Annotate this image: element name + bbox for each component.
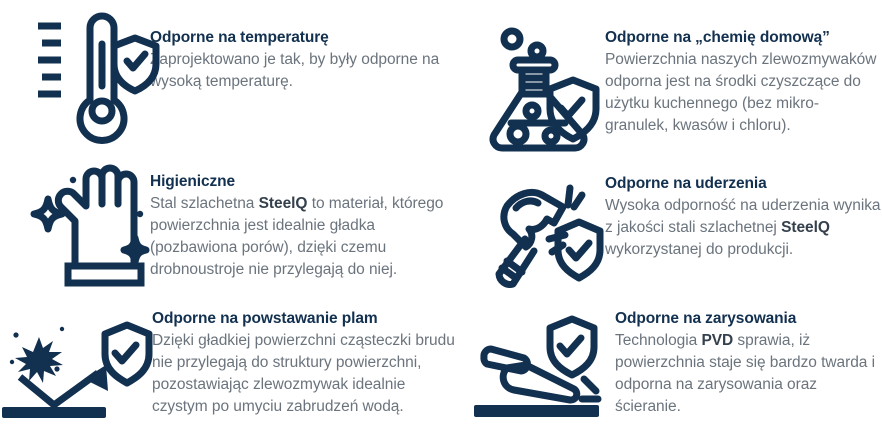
feature-description: Zaprojektowano je tak, by były odporne n… <box>150 49 458 93</box>
desc-part-before: Stal szlachetna <box>150 195 259 212</box>
features-grid: Odporne na temperaturę Zaprojektowano je… <box>0 0 882 441</box>
feature-text-stains: Odporne na powstawanie plam Dzięki gładk… <box>152 305 458 418</box>
feature-title: Odporne na zarysowania <box>615 309 882 330</box>
feature-card-impact: Odporne na uderzenia Wysoka odporność na… <box>485 170 882 293</box>
stain-repel-shield-icon <box>2 317 152 427</box>
thermometer-shield-icon <box>28 14 150 132</box>
desc-part-before: Technologia <box>615 332 701 349</box>
feature-text-chemicals: Odporne na „chemię domową” Powierzchnia … <box>605 22 882 137</box>
feature-title: Odporne na „chemię domową” <box>605 28 882 49</box>
feature-card-chemicals: Odporne na „chemię domową” Powierzchnia … <box>485 22 882 148</box>
feature-text-impact: Odporne na uderzenia Wysoka odporność na… <box>605 170 882 261</box>
feature-text-hygienic: Higieniczne Stal szlachetna SteelQ to ma… <box>150 160 458 281</box>
desc-brand-pvd: PVD <box>701 332 733 349</box>
feature-card-hygienic: Higieniczne Stal szlachetna SteelQ to ma… <box>28 160 458 284</box>
feature-title: Odporne na temperaturę <box>150 28 458 49</box>
feature-card-temperature: Odporne na temperaturę Zaprojektowano je… <box>28 12 458 132</box>
feature-description: Wysoka odporność na uderzenia wynika z j… <box>605 195 882 261</box>
feature-card-stains: Odporne na powstawanie plam Dzięki gładk… <box>0 305 458 427</box>
feature-description: Powierzchnia naszych zlewozmywaków odpor… <box>605 49 882 137</box>
feature-title: Higieniczne <box>150 172 458 193</box>
feature-description: Dzięki gładkiej powierzchni cząsteczki b… <box>152 330 458 418</box>
feature-title: Odporne na powstawanie plam <box>152 309 458 330</box>
feature-title: Odporne na uderzenia <box>605 174 882 195</box>
desc-brand-steelq: SteelQ <box>259 195 308 212</box>
desc-brand-steelq: SteelQ <box>781 219 830 236</box>
knife-surface-shield-icon <box>470 317 615 427</box>
glove-sparkle-icon <box>28 166 150 284</box>
desc-part-before: Wysoka odporność na uderzenia wynika z j… <box>605 197 881 236</box>
feature-text-scratch: Odporne na zarysowania Technologia PVD s… <box>615 307 882 418</box>
flask-shield-icon <box>485 26 605 148</box>
desc-part-after: wykorzystanej do produkcji. <box>605 241 793 258</box>
feature-text-temperature: Odporne na temperaturę Zaprojektowano je… <box>150 12 458 93</box>
feature-description: Stal szlachetna SteelQ to materiał, któr… <box>150 193 458 281</box>
hammer-shield-icon <box>485 178 605 293</box>
feature-card-scratch: Odporne na zarysowania Technologia PVD s… <box>470 307 882 427</box>
feature-description: Technologia PVD sprawia, iż powierzchnia… <box>615 330 882 418</box>
